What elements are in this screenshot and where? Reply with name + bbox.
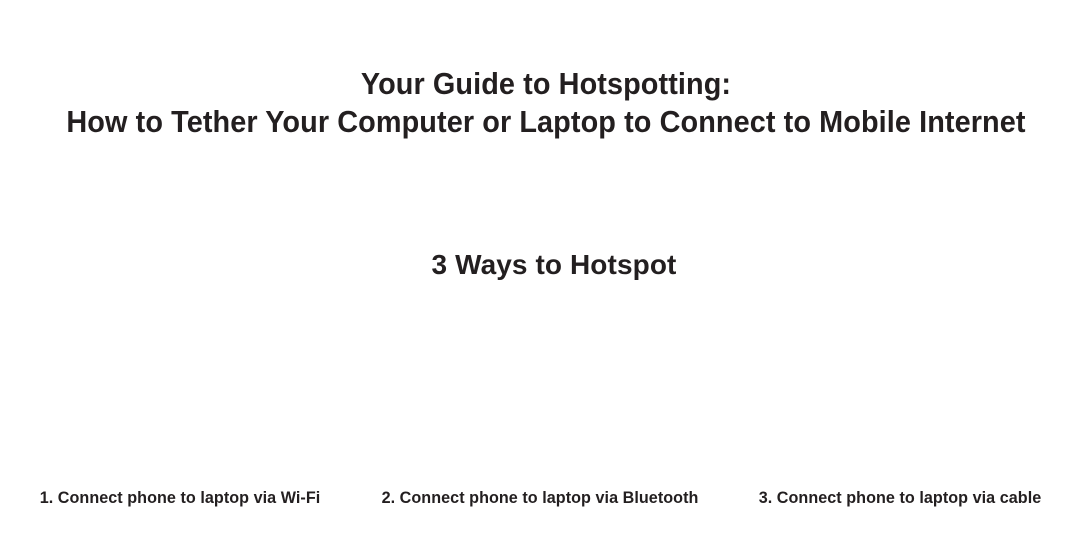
illustration-slot-wifi [0, 276, 360, 482]
illustration-slot-bluetooth [360, 276, 720, 482]
caption-bluetooth: 2. Connect phone to laptop via Bluetooth [369, 486, 711, 510]
caption-row: 1. Connect phone to laptop via Wi-Fi 2. … [0, 486, 1080, 510]
infographic-page: Your Guide to Hotspotting: How to Tether… [0, 0, 1080, 552]
illustration-slot-cable [720, 276, 1080, 482]
wifi-illustration-image [0, 276, 360, 482]
cable-illustration-image [720, 276, 1080, 482]
page-title-line-1: Your Guide to Hotspotting: [38, 65, 1054, 103]
caption-wifi: 1. Connect phone to laptop via Wi-Fi [9, 486, 351, 510]
caption-cable: 3. Connect phone to laptop via cable [729, 486, 1071, 510]
bluetooth-illustration-image [360, 276, 720, 482]
page-title-line-2: How to Tether Your Computer or Laptop to… [38, 103, 1054, 141]
illustration-row [0, 276, 1080, 482]
page-title: Your Guide to Hotspotting: How to Tether… [38, 65, 1054, 141]
